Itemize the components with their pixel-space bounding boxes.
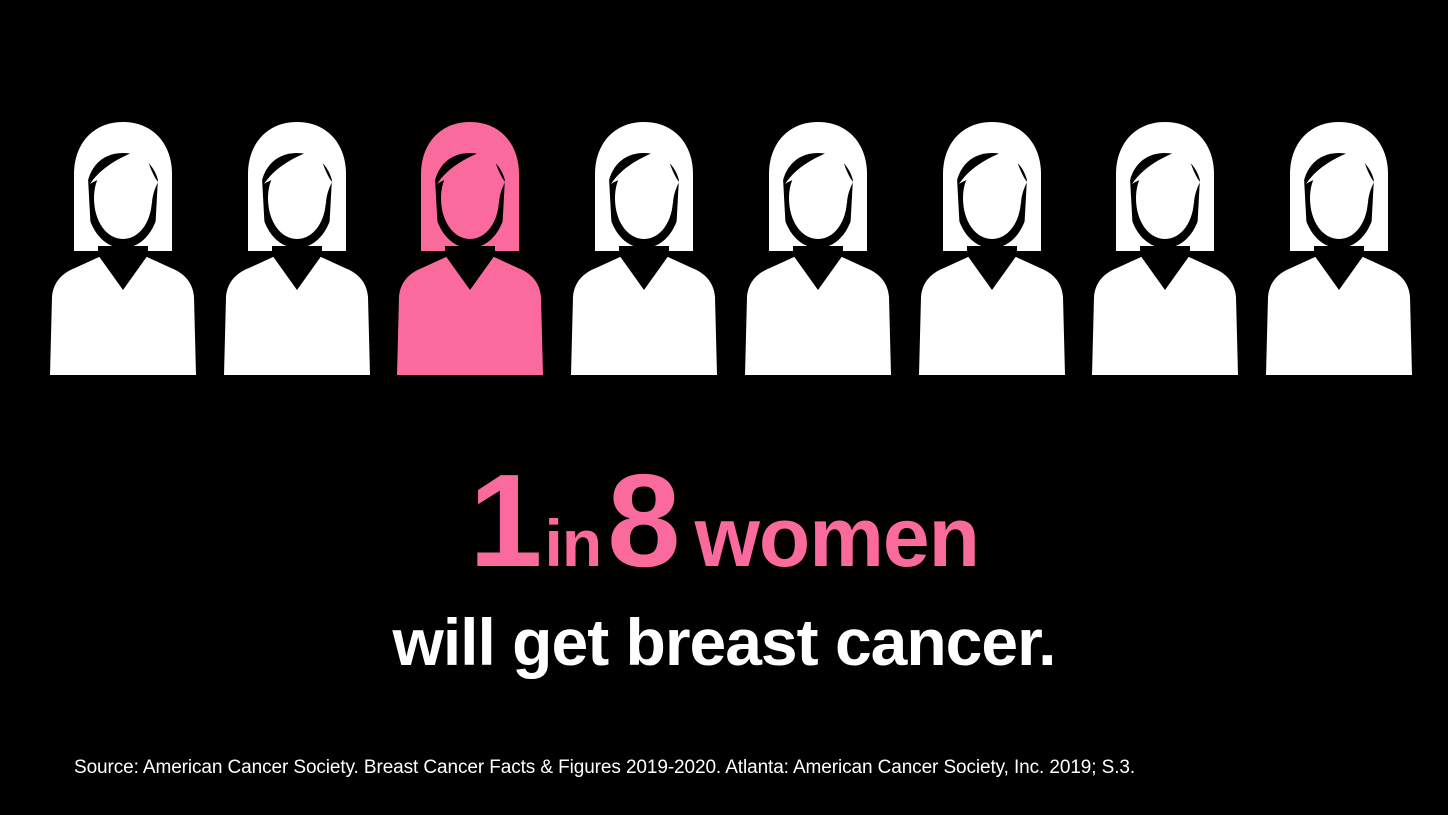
statistic-numerator: 1 xyxy=(469,447,540,594)
woman-figure-icon xyxy=(1264,118,1414,380)
statistic-denominator: 8 xyxy=(607,447,678,594)
headline-statistic: 1in8women xyxy=(0,455,1448,587)
woman-figure-icon xyxy=(917,118,1067,380)
headline-block: 1in8women will get breast cancer. xyxy=(0,455,1448,675)
statistic-connector: in xyxy=(540,506,607,580)
pictogram-figure-row xyxy=(48,118,1414,380)
woman-figure-icon xyxy=(395,118,545,380)
woman-figure-icon xyxy=(569,118,719,380)
infographic-slide: 1in8women will get breast cancer. Source… xyxy=(0,0,1448,815)
statistic-subject: women xyxy=(679,490,979,584)
woman-figure-icon xyxy=(1090,118,1240,380)
woman-figure-icon xyxy=(222,118,372,380)
woman-figure-icon xyxy=(743,118,893,380)
headline-predicate: will get breast cancer. xyxy=(0,609,1448,675)
source-citation: Source: American Cancer Society. Breast … xyxy=(74,757,1135,779)
woman-figure-icon xyxy=(48,118,198,380)
